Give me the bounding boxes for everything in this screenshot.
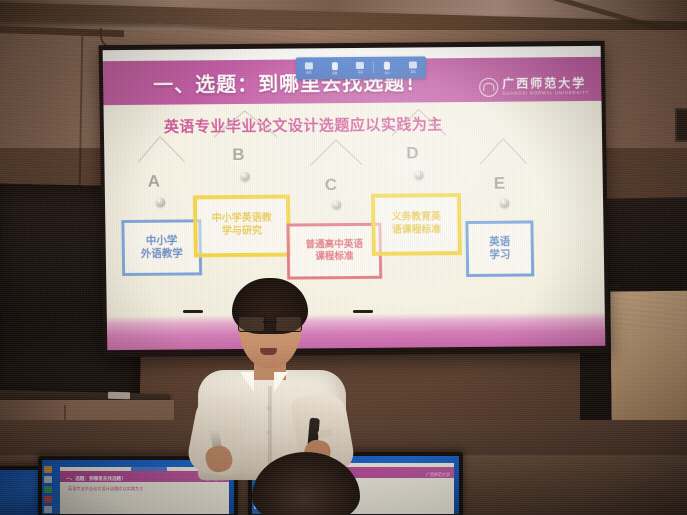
desktop-icons[interactable] — [44, 464, 57, 514]
glasses-lens-right — [275, 316, 302, 332]
toolbar-item-pen[interactable]: 画笔 — [322, 62, 348, 75]
presenter-brow-right — [353, 310, 373, 313]
box-a-line1: 中小学 — [146, 234, 178, 248]
shirt-button — [267, 454, 272, 459]
node-letter-e: E — [494, 174, 506, 194]
diagram-box-e: 英语 学习 — [465, 220, 534, 277]
chalk-piece — [108, 392, 130, 400]
presenter-mouth — [260, 348, 277, 355]
node-pin-a — [156, 198, 165, 207]
presenter-glasses — [236, 316, 304, 330]
box-e-line1: 英语 — [489, 235, 510, 249]
toolbar-label-4: 退出 — [410, 69, 415, 73]
box-e-line2: 学习 — [489, 249, 510, 263]
node-letter-c: C — [325, 175, 338, 195]
node-letter-a: A — [148, 172, 161, 192]
node-letter-d: D — [406, 143, 419, 163]
node-letter-b: B — [232, 145, 245, 165]
box-b-line2: 学与研究 — [222, 226, 262, 239]
node-pin-d — [415, 170, 424, 179]
toolbar-label-3: 标记 — [385, 70, 390, 74]
wall-frame — [675, 108, 687, 142]
toolbar-item-annotate[interactable]: 批注 — [296, 62, 322, 74]
presenter-collar-left — [240, 372, 254, 392]
toolbar-label-0: 批注 — [306, 70, 311, 74]
box-d-line1: 义务教育英 — [392, 212, 441, 225]
glasses-bridge — [263, 321, 277, 323]
pen-icon — [332, 62, 338, 70]
diagram-box-a: 中小学 外语教学 — [121, 219, 202, 276]
shirt-button — [267, 430, 272, 435]
presenter — [178, 278, 378, 478]
box-c-line2: 课程标准 — [315, 251, 354, 264]
box-a-line2: 外语教学 — [141, 247, 183, 261]
mark-icon — [384, 61, 390, 69]
diagram-box-c: 普通高中英语 课程标准 — [286, 223, 382, 280]
mirrored-title: 一、选题：到哪里去找选题！ — [66, 476, 126, 482]
presenter-collar-right — [274, 372, 288, 392]
mirrored-subtitle: 英语专业毕业论文设计选题应以实践为主 — [68, 486, 143, 492]
toolbar-item-exit[interactable]: 退出 — [400, 61, 426, 73]
presenter-brow-left — [183, 310, 203, 313]
glasses-lens-left — [238, 316, 265, 332]
toolbar-item-mark[interactable]: 标记 — [374, 61, 400, 74]
toolbar-label-1: 画笔 — [332, 71, 337, 75]
present-icon — [356, 62, 364, 69]
desktop-icons[interactable] — [0, 474, 5, 515]
box-d-line2: 语课程标准 — [392, 224, 441, 237]
toolbar-label-2: 演示 — [358, 70, 363, 74]
node-pin-c — [332, 200, 341, 209]
annotate-icon — [305, 62, 313, 69]
floating-annotation-toolbar[interactable]: 批注 画笔 演示 标记 退出 — [296, 56, 426, 79]
lecture-hall-photo: 广西师范大学 GUANGXI NORMAL UNIVERSITY 一、选题：到哪… — [0, 0, 687, 515]
shirt-button — [267, 406, 272, 411]
node-pin-b — [241, 172, 250, 181]
mirrored-logo: 广西师范大学 — [426, 472, 450, 478]
toolbar-item-present[interactable]: 演示 — [347, 62, 373, 74]
box-b-line1: 中小学英语教 — [212, 213, 272, 226]
diagram-box-d: 义务教育英 语课程标准 — [371, 193, 462, 256]
exit-icon — [409, 61, 417, 68]
node-pin-e — [500, 199, 509, 208]
box-c-line1: 普通高中英语 — [305, 239, 363, 252]
diagram-box-b: 中小学英语教 学与研究 — [193, 195, 291, 258]
